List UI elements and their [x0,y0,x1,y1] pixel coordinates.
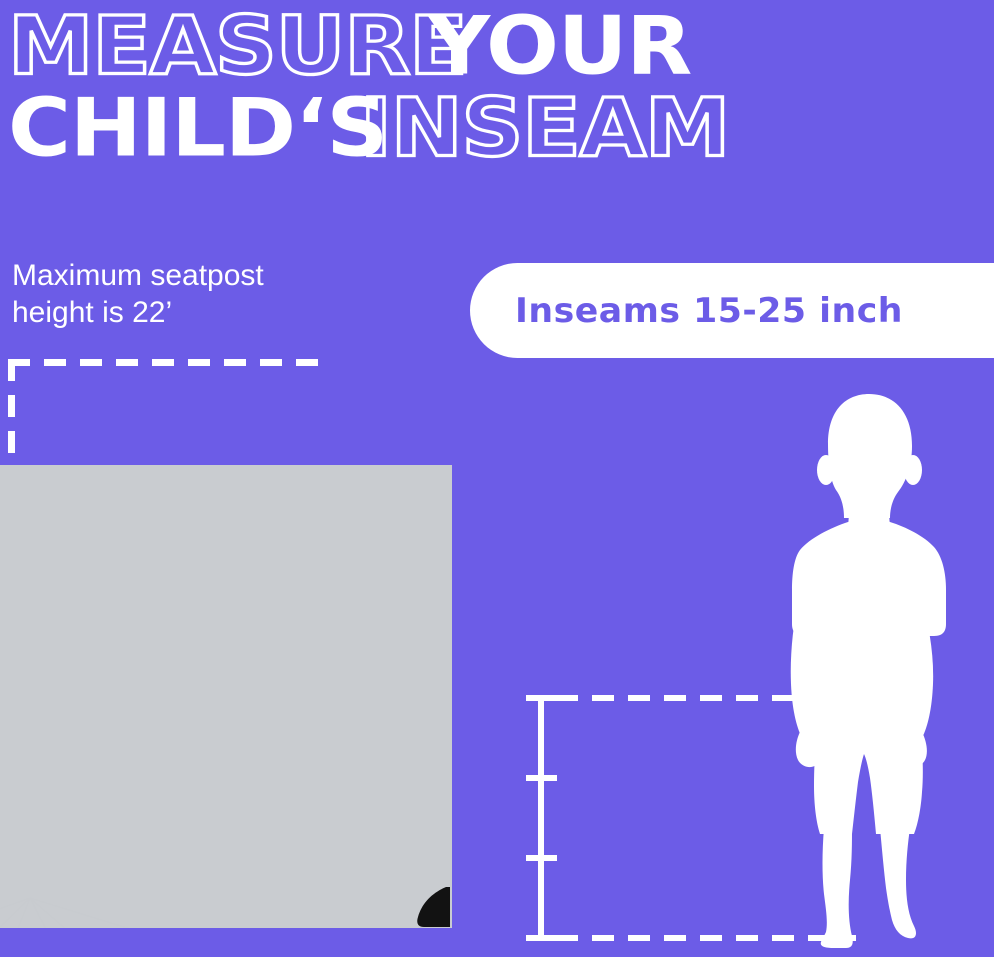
frame-decal-icon [388,883,452,928]
saddle-photo-inner [0,465,452,928]
poster-canvas: MEASURE YOUR CHILD‘S INSEAM Maximum seat… [0,0,994,957]
inseam-range-badge: Inseams 15-25 inch [470,263,994,358]
headline-line-1: MEASURE YOUR [8,2,988,84]
caption-line-1: Maximum seatpost [12,258,412,295]
wheel-spokes-icon [0,465,452,928]
inseam-tick-upper-mid [526,775,557,781]
inseam-top-dashed-guide [556,695,846,701]
headline-word-measure: MEASURE [8,2,467,91]
inseam-tick-lower-mid [526,855,557,861]
inseam-ruler-line [538,698,544,939]
page-title: MEASURE YOUR CHILD‘S INSEAM [8,2,988,166]
seatpost-caption: Maximum seatpost height is 22’ [12,258,412,331]
headline-word-your: YOUR [428,2,691,91]
headline-word-inseam: INSEAM [360,84,729,173]
saddle-photo [0,465,452,928]
inseam-range-label: Inseams 15-25 inch [515,291,903,331]
inseam-tick-bottom [526,935,557,941]
headline-word-childs: CHILD‘S [8,84,387,173]
seatpost-guide-horizontal-dashed [8,359,318,366]
seatpost-guide-vertical-dashed [8,359,15,469]
headline-line-2: CHILD‘S INSEAM [8,84,988,166]
inseam-tick-top [526,695,557,701]
inseam-bottom-dashed-guide [556,935,856,941]
caption-line-2: height is 22’ [12,295,412,332]
child-silhouette-icon [772,392,954,948]
